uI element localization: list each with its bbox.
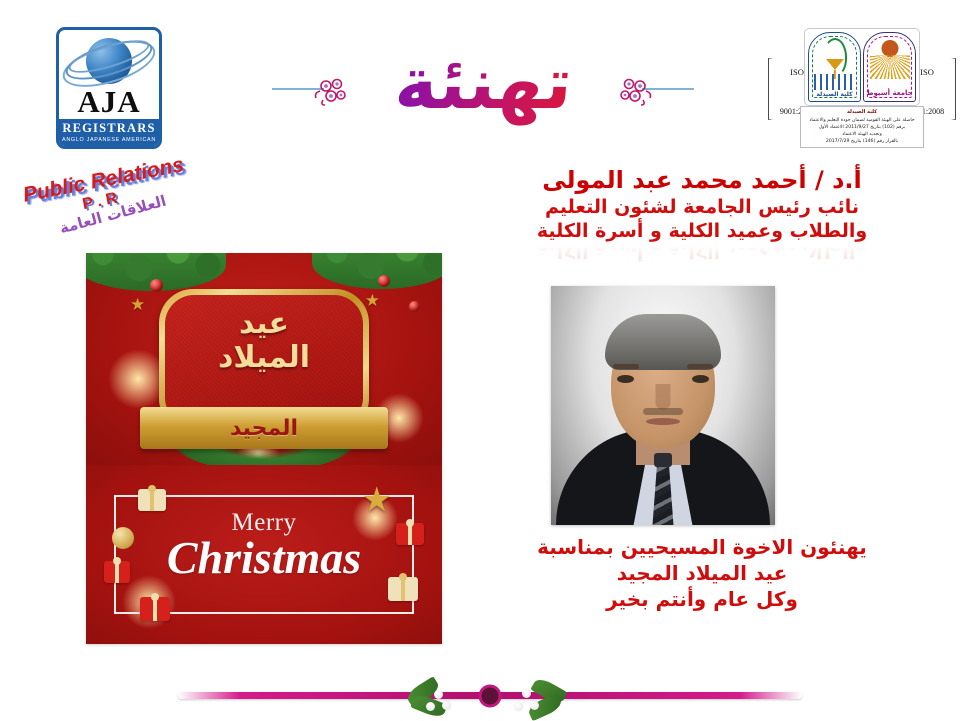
badge-arabic-line-2: الميلاد [218,341,310,375]
ribbon-arabic-text: المجيد [230,416,298,441]
gift-box-icon [138,489,166,511]
greeting-line-1: يهنئون الاخوة المسيحيين بمناسبة [452,534,952,560]
red-bauble-icon [150,279,163,292]
red-bauble-icon [409,301,420,312]
aja-registrars-logo: AJA REGISTRARS ANGLO JAPANESE AMERICAN [56,27,162,149]
title-arabic-calligraphy: تهنئة [333,41,632,133]
university-emblem-label: جامعة أسيوط [864,90,915,97]
seal-caption-line-5: بالقرار رقم (146) بتاريخ 2017/7/29 [802,138,922,145]
pharmacy-emblem-label: كلية الصيدلة [809,91,860,98]
pharmacy-emblem-icon: كلية الصيدلة [808,32,861,102]
red-bauble-icon [378,275,390,287]
name-reflection: والطلاب وعميد الكلية و أسرة الكلية [452,239,952,261]
footer-floral-divider [150,672,830,718]
hair [605,314,721,370]
aja-logo-tagline: ANGLO JAPANESE AMERICAN [59,137,159,143]
honoree-title-line-2: والطلاب وعميد الكلية و أسرة الكلية [452,220,952,242]
christmas-card-ribbon: المجيد [140,407,388,449]
public-relations-logo: Public Relations P . R العلاقات العامة [18,162,198,234]
gold-star-icon: ★ [130,297,145,314]
babys-breath-icon [442,701,451,710]
pine-garland-icon [312,253,442,289]
honoree-name: أ.د / أحمد محمد عبد المولى [452,166,952,194]
badge-arabic-line-1: عيد [218,307,310,341]
honoree-name-block: أ.د / أحمد محمد عبد المولى نائب رئيس الج… [452,166,952,262]
greeting-card-page: AJA REGISTRARS ANGLO JAPANESE AMERICAN P… [0,0,960,720]
university-accreditation-seal: ISO 9001:2015 ISO 9001:2008 جامعة أسيوط … [782,26,942,158]
seal-caption-line-2: حاصلة على الهيئة القومية لضمان جودة التع… [802,117,922,124]
christmas-card-image: ★ ★ ★ ★ ★ عيد الميلاد المجيد [86,253,442,644]
seal-caption-line-4: وتجديد الهيئة الاعتماد [802,131,922,138]
globe-icon [59,34,159,85]
christmas-text: Christmas [86,531,442,584]
greeting-line-2: عيد الميلاد المجيد [452,560,952,586]
babys-breath-icon [434,690,443,699]
portrait-photo [551,286,775,525]
gift-box-icon [140,597,170,621]
honoree-title-line-1: نائب رئيس الجامعة لشئون التعليم [452,196,952,218]
greeting-message-block: يهنئون الاخوة المسيحيين بمناسبة عيد المي… [452,534,952,612]
iso-label-right: ISO [920,67,934,77]
christmas-card-top-half: ★ ★ ★ ★ ★ عيد الميلاد المجيد [86,253,442,465]
babys-breath-icon [530,701,539,710]
iso-label-left: ISO [790,67,804,77]
assiut-university-emblem-icon: جامعة أسيوط [863,32,916,102]
page-title: تهنئة [268,26,698,148]
babys-breath-icon [426,702,435,711]
seal-caption: كلية الصيدلة حاصلة على الهيئة القومية لض… [800,106,924,148]
christmas-card-bottom-half: ★ Merry Christmas [86,465,442,644]
gold-star-icon: ★ [365,293,380,310]
aja-logo-subtitle: REGISTRARS [59,121,159,136]
seal-caption-line-3: برقم (102) بتاريخ 2011/9/27 الاعتماد الأ… [802,124,922,131]
greeting-line-3: وكل عام وأنتم بخير [452,586,952,612]
gerbera-flower-icon [452,674,528,718]
seal-caption-line-1: كلية الصيدلة [802,109,922,117]
aja-logo-wordmark: AJA [77,86,140,117]
